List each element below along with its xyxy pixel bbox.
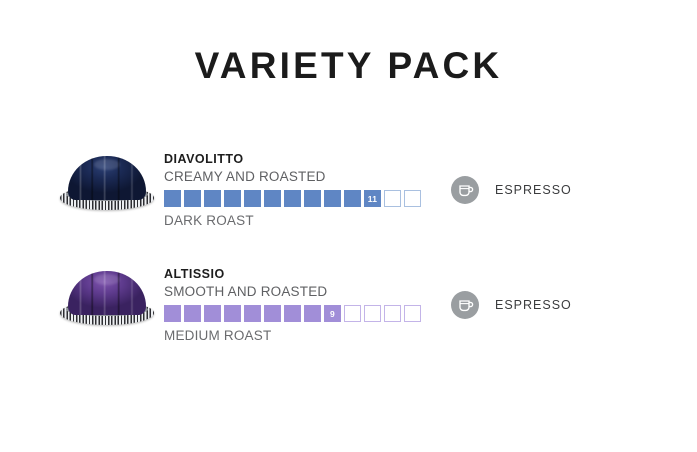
- intensity-cell-filled: [164, 190, 181, 207]
- intensity-bar: 9: [164, 305, 444, 322]
- intensity-bar: 11: [164, 190, 444, 207]
- intensity-cell-empty: [384, 190, 401, 207]
- product-roast: MEDIUM ROAST: [164, 327, 444, 345]
- intensity-cell-empty: [404, 305, 421, 322]
- product-description: SMOOTH AND ROASTED: [164, 283, 444, 301]
- product-roast: DARK ROAST: [164, 212, 444, 230]
- intensity-cell-empty: [364, 305, 381, 322]
- espresso-cup-icon: [451, 176, 479, 204]
- intensity-cell-filled: [184, 305, 201, 322]
- product-name: DIAVOLITTO: [164, 152, 444, 167]
- intensity-cell-filled: [304, 305, 321, 322]
- espresso-cup-icon: [451, 291, 479, 319]
- intensity-cell-value: 11: [364, 190, 381, 207]
- page-title: VARIETY PACK: [0, 44, 697, 88]
- intensity-cell-filled: [164, 305, 181, 322]
- product-info: DIAVOLITTO CREAMY AND ROASTED 11 DARK RO…: [164, 150, 444, 230]
- intensity-cell-filled: [264, 190, 281, 207]
- intensity-cell-filled: [204, 190, 221, 207]
- intensity-cell-filled: [264, 305, 281, 322]
- intensity-cell-empty: [384, 305, 401, 322]
- intensity-cell-filled: [244, 305, 261, 322]
- intensity-cell-filled: [204, 305, 221, 322]
- capsule-dome: [68, 271, 146, 315]
- espresso-type-group: ESPRESSO: [451, 291, 572, 319]
- intensity-cell-value: 9: [324, 305, 341, 322]
- intensity-cell-filled: [324, 190, 341, 207]
- espresso-label: ESPRESSO: [495, 298, 572, 312]
- product-row: ALTISSIO SMOOTH AND ROASTED 9 MEDIUM ROA…: [0, 265, 697, 351]
- intensity-cell-filled: [184, 190, 201, 207]
- capsule-gloss: [94, 159, 120, 170]
- capsule-image-diavolitto: [58, 156, 156, 212]
- product-description: CREAMY AND ROASTED: [164, 168, 444, 186]
- product-row: DIAVOLITTO CREAMY AND ROASTED 11 DARK RO…: [0, 150, 697, 236]
- intensity-cell-filled: [304, 190, 321, 207]
- espresso-label: ESPRESSO: [495, 183, 572, 197]
- intensity-cell-filled: [244, 190, 261, 207]
- intensity-cell-filled: [284, 190, 301, 207]
- intensity-cell-empty: [404, 190, 421, 207]
- capsule-dome: [68, 156, 146, 200]
- capsule-gloss: [94, 274, 120, 285]
- intensity-cell-empty: [344, 305, 361, 322]
- intensity-cell-filled: [224, 305, 241, 322]
- capsule-image-altissio: [58, 271, 156, 327]
- intensity-cell-filled: [224, 190, 241, 207]
- intensity-cell-filled: [344, 190, 361, 207]
- product-info: ALTISSIO SMOOTH AND ROASTED 9 MEDIUM ROA…: [164, 265, 444, 345]
- intensity-cell-filled: [284, 305, 301, 322]
- espresso-type-group: ESPRESSO: [451, 176, 572, 204]
- product-name: ALTISSIO: [164, 267, 444, 282]
